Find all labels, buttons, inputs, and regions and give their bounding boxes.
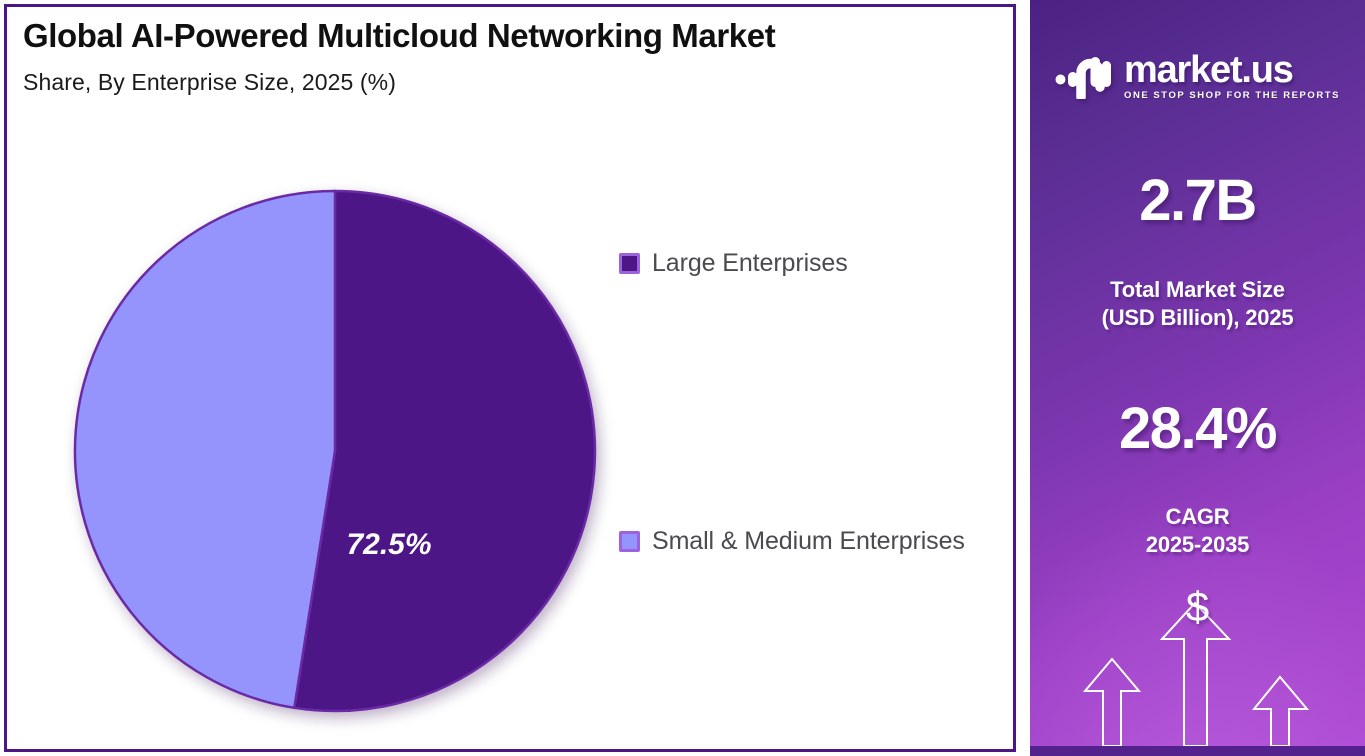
stat-caption-line1: Total Market Size — [1030, 276, 1365, 304]
pie-slices-group — [75, 191, 595, 711]
chart-header: Global AI-Powered Multicloud Networking … — [23, 15, 1003, 98]
chart-card: Global AI-Powered Multicloud Networking … — [4, 4, 1016, 752]
stat-caption-line2: (USD Billion), 2025 — [1030, 304, 1365, 332]
legend-item-small-medium-enterprises[interactable]: Small & Medium Enterprises — [619, 527, 965, 556]
legend: Large Enterprises Small & Medium Enterpr… — [619, 187, 1009, 627]
pie-chart: 72.5% — [37, 157, 657, 752]
stat-total-market-size: 2.7B Total Market Size (USD Billion), 20… — [1030, 172, 1365, 332]
logo-wordmark: market.us — [1124, 52, 1293, 88]
stat-caption: CAGR 2025-2035 — [1030, 503, 1365, 559]
stat-cagr: 28.4% CAGR 2025-2035 — [1030, 400, 1365, 559]
brand-stats-panel: market.us ONE STOP SHOP FOR THE REPORTS … — [1030, 0, 1365, 756]
market-us-logo-icon — [1055, 53, 1111, 99]
dollar-sign-icon: $ — [1186, 586, 1209, 628]
stat-value: 2.7B — [1030, 172, 1365, 230]
chart-subtitle: Share, By Enterprise Size, 2025 (%) — [23, 68, 1003, 98]
panel-bottom-bar — [1030, 746, 1365, 756]
legend-item-label: Large Enterprises — [652, 249, 848, 278]
pie-slice-value-label: 72.5% — [346, 528, 431, 561]
legend-item-label: Small & Medium Enterprises — [652, 527, 965, 556]
stat-value: 28.4% — [1030, 400, 1365, 458]
stat-caption: Total Market Size (USD Billion), 2025 — [1030, 276, 1365, 332]
legend-item-large-enterprises[interactable]: Large Enterprises — [619, 249, 848, 278]
pie-slice-small-medium-enterprises[interactable] — [75, 191, 335, 708]
legend-swatch-icon — [619, 531, 640, 552]
legend-swatch-icon — [619, 253, 640, 274]
stat-caption-line2: 2025-2035 — [1030, 531, 1365, 559]
growth-arrows-art: $ — [1068, 581, 1328, 746]
page-title: Global AI-Powered Multicloud Networking … — [23, 15, 1003, 58]
infographic-root: Global AI-Powered Multicloud Networking … — [0, 0, 1365, 756]
logo-tagline: ONE STOP SHOP FOR THE REPORTS — [1124, 91, 1340, 101]
pie-chart-svg: 72.5% — [37, 157, 657, 752]
stat-caption-line1: CAGR — [1030, 503, 1365, 531]
brand-logo[interactable]: market.us ONE STOP SHOP FOR THE REPORTS — [1030, 52, 1365, 101]
logo-text-block: market.us ONE STOP SHOP FOR THE REPORTS — [1124, 52, 1340, 101]
pie-slice-large-enterprises[interactable] — [294, 191, 595, 711]
